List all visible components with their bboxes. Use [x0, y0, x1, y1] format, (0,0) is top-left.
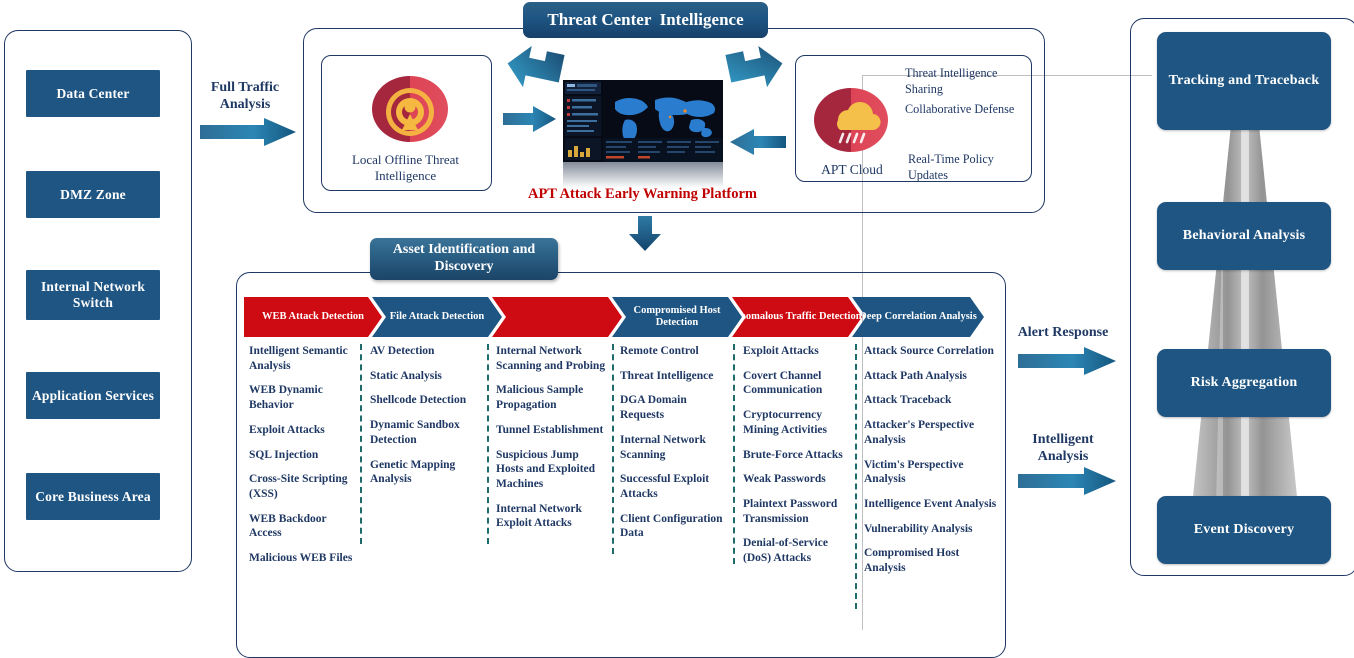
radar-broadcast-icon — [372, 76, 448, 142]
column-file-attack-detection: AV DetectionStatic AnalysisShellcode Det… — [370, 344, 485, 497]
column-lateral-movement: Internal Network Scanning and ProbingMal… — [496, 344, 608, 541]
full-traffic-arrow-icon — [200, 117, 298, 147]
stage-box-event-discovery[interactable]: Event Discovery — [1157, 496, 1331, 564]
detection-item: Intelligence Event Analysis — [864, 497, 998, 512]
stage-compromised-host-detection[interactable]: Compromised Host Detection — [612, 297, 742, 337]
detection-item: Attack Source Correlation — [864, 344, 998, 359]
detection-item: Shellcode Detection — [370, 393, 485, 408]
detection-item: Denial-of-Service (DoS) Attacks — [743, 536, 851, 565]
threat-center-title: Threat Center Intelligence — [523, 2, 768, 38]
detection-item: Plaintext Password Transmission — [743, 497, 851, 526]
stage-box-label: Event Discovery — [1194, 522, 1295, 539]
stage-label: Anomalous Traffic Detection — [732, 311, 861, 323]
zone-box-core-business[interactable]: Core Business Area — [26, 473, 160, 520]
escalation-arrow-icon — [1175, 65, 1315, 555]
zone-box-application-services[interactable]: Application Services — [26, 372, 160, 419]
alert-response-arrow-icon — [1018, 346, 1118, 376]
detection-item: AV Detection — [370, 344, 485, 359]
platform-dashboard-screen[interactable] — [563, 80, 723, 162]
detection-item: Remote Control — [620, 344, 728, 359]
detection-item: Attack Traceback — [864, 393, 998, 408]
detection-item: Compromised Host Analysis — [864, 546, 998, 575]
alert-response-label: Alert Response — [1004, 325, 1122, 342]
column-divider — [612, 344, 614, 554]
detection-item: Victim's Perspective Analysis — [864, 458, 998, 487]
detection-item: Vulnerability Analysis — [864, 522, 998, 537]
stage-box-label: Behavioral Analysis — [1183, 228, 1305, 245]
column-divider — [855, 344, 857, 609]
zone-box-internal-switch[interactable]: Internal Network Switch — [26, 270, 160, 320]
detection-item: Attacker's Perspective Analysis — [864, 418, 998, 447]
zone-box-dmz[interactable]: DMZ Zone — [26, 171, 160, 218]
detection-item: Covert Channel Communication — [743, 369, 851, 398]
title-arrow-right-icon — [725, 45, 785, 95]
column-compromised-host-detection: Remote ControlThreat IntelligenceDGA Dom… — [620, 344, 728, 551]
local-to-platform-arrow-icon — [503, 105, 558, 133]
detection-item: SQL Injection — [249, 448, 357, 463]
detection-item: DGA Domain Requests — [620, 393, 728, 422]
diagram-canvas: Data Center DMZ Zone Internal Network Sw… — [0, 0, 1354, 658]
column-divider — [487, 344, 489, 544]
detection-item: Intelligent Semantic Analysis — [249, 344, 357, 373]
zone-label: Data Center — [56, 86, 129, 102]
stage-box-behavioral-analysis[interactable]: Behavioral Analysis — [1157, 202, 1331, 270]
stage-box-label: Risk Aggregation — [1191, 375, 1298, 392]
platform-label: APT Attack Early Warning Platform — [505, 186, 780, 203]
stage-anomalous-traffic-detection[interactable]: Anomalous Traffic Detection — [732, 297, 862, 337]
detection-item: Tunnel Establishment — [496, 423, 608, 438]
title-arrow-left-icon — [505, 45, 565, 95]
cloud-feature-collaborative-defense: Collaborative Defense — [905, 102, 1023, 118]
apt-cloud-caption: APT Cloud — [806, 162, 898, 179]
cloud-feature-realtime-policy: Real-Time Policy Updates — [908, 152, 1026, 184]
cloud-to-platform-arrow-icon — [728, 128, 786, 156]
detection-item: WEB Dynamic Behavior — [249, 383, 357, 412]
intelligent-analysis-label: Intelligent Analysis — [1010, 432, 1116, 466]
stage-label: WEB Attack Detection — [262, 311, 364, 323]
detection-item: Internal Network Scanning — [620, 433, 728, 462]
zone-label: Core Business Area — [35, 489, 151, 505]
detection-item: Malicious Sample Propagation — [496, 383, 608, 412]
platform-to-detection-arrow-icon — [628, 216, 662, 252]
column-deep-correlation-analysis: Attack Source CorrelationAttack Path Ana… — [864, 344, 998, 586]
detection-item: Exploit Attacks — [249, 423, 357, 438]
stage-label: File Attack Detection — [390, 311, 484, 323]
detection-item: Internal Network Exploit Attacks — [496, 502, 608, 531]
column-anomalous-traffic-detection: Exploit AttacksCovert Channel Communicat… — [743, 344, 851, 576]
detection-item: Brute-Force Attacks — [743, 448, 851, 463]
detection-item: Suspicious Jump Hosts and Exploited Mach… — [496, 448, 608, 492]
cloud-rain-icon — [814, 88, 888, 152]
intelligent-analysis-arrow-icon — [1018, 466, 1118, 496]
stage-box-label: Tracking and Traceback — [1169, 73, 1320, 90]
detection-item: Threat Intelligence — [620, 369, 728, 384]
detection-item: Client Configuration Data — [620, 512, 728, 541]
stage-box-tracking-traceback[interactable]: Tracking and Traceback — [1157, 32, 1331, 130]
stage-deep-correlation-analysis[interactable]: Deep Correlation Analysis — [852, 297, 984, 337]
detection-item: Malicious WEB Files — [249, 551, 357, 566]
stage-lateral-movement[interactable] — [492, 297, 622, 337]
detection-item: Weak Passwords — [743, 472, 851, 487]
stage-file-attack-detection[interactable]: File Attack Detection — [372, 297, 502, 337]
detection-item: Cross-Site Scripting (XSS) — [249, 472, 357, 501]
detection-item: WEB Backdoor Access — [249, 512, 357, 541]
detection-item: Successful Exploit Attacks — [620, 472, 728, 501]
zone-label: Application Services — [32, 388, 154, 404]
stage-box-risk-aggregation[interactable]: Risk Aggregation — [1157, 349, 1331, 417]
detection-item: Static Analysis — [370, 369, 485, 384]
zone-box-data-center[interactable]: Data Center — [26, 70, 160, 117]
cloud-feature-threat-sharing: Threat Intelligence Sharing — [905, 66, 1023, 98]
stage-label: Compromised Host Detection — [612, 305, 742, 329]
zone-label: DMZ Zone — [60, 187, 126, 203]
column-divider — [733, 344, 735, 564]
detection-item: Attack Path Analysis — [864, 369, 998, 384]
dashboard-reflection — [563, 162, 723, 188]
local-offline-intel-caption: Local Offline Threat Intelligence — [324, 152, 487, 185]
full-traffic-analysis-label: Full Traffic Analysis — [196, 80, 294, 114]
column-divider — [360, 344, 362, 544]
detection-item: Cryptocurrency Mining Activities — [743, 408, 851, 437]
detection-item: Exploit Attacks — [743, 344, 851, 359]
stage-web-attack-detection[interactable]: WEB Attack Detection — [244, 297, 382, 337]
stage-label: Deep Correlation Analysis — [859, 311, 977, 323]
detection-item: Internal Network Scanning and Probing — [496, 344, 608, 373]
column-web-attack-detection: Intelligent Semantic AnalysisWEB Dynamic… — [249, 344, 357, 576]
detection-item: Genetic Mapping Analysis — [370, 458, 485, 487]
zone-label: Internal Network Switch — [26, 279, 160, 311]
detection-item: Dynamic Sandbox Detection — [370, 418, 485, 447]
asset-identification-chip: Asset Identification and Discovery — [370, 238, 558, 280]
